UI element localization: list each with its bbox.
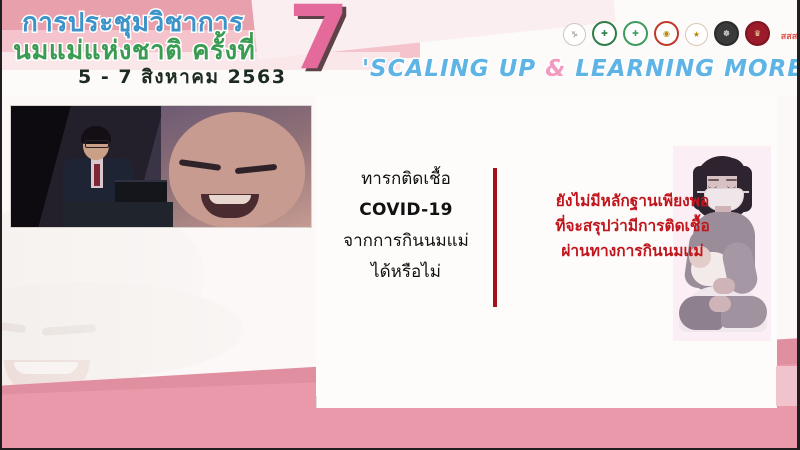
logo-2-glyph: ✚ xyxy=(632,29,639,38)
speaker-tie xyxy=(94,164,100,186)
question-line-3: จากการกินนมแม่ xyxy=(330,226,482,257)
logo-0-glyph: ♑ xyxy=(571,30,578,39)
podium xyxy=(63,202,173,228)
mother-foot xyxy=(709,296,731,312)
question-line-2: COVID-19 xyxy=(330,195,482,226)
conference-date: 5 - 7 สิงหาคม 2563 xyxy=(78,62,286,92)
answer-line-1: ยังไม่มีหลักฐานเพียงพอ xyxy=(505,189,760,214)
tagline-part-2: LEARNING MORE' xyxy=(566,56,800,82)
logo-emblem-red-icon: ◉ xyxy=(654,21,679,46)
frame-edge-left xyxy=(0,0,2,450)
speaker-glasses-icon xyxy=(85,140,109,148)
answer-line-3: ผ่านทางการกินนมแม่ xyxy=(505,239,760,264)
logo-ministry-health-icon: ✚ xyxy=(592,21,617,46)
logo-6-glyph: ♛ xyxy=(754,29,761,38)
conference-edition-number: 7 xyxy=(288,0,349,82)
answer-line-2: ที่จะสรุปว่ามีการติดเชื้อ xyxy=(505,214,760,239)
projected-baby-teeth xyxy=(209,195,251,204)
red-vertical-divider xyxy=(493,168,497,307)
logo-foundation-icon: ♑ xyxy=(563,23,586,46)
logo-7-glyph: สสส xyxy=(781,29,797,43)
tagline-part-1: 'SCALING UP xyxy=(362,56,545,82)
question-text-block: ทารกติดเชื้อ COVID-19 จากการกินนมแม่ ได้… xyxy=(330,164,482,288)
logo-red-crown-icon: ♛ xyxy=(745,21,770,46)
question-line-4: ได้หรือไม่ xyxy=(330,257,482,288)
logo-3-glyph: ◉ xyxy=(663,29,670,38)
logo-5-glyph: ☸ xyxy=(723,29,730,38)
mother-hand xyxy=(713,278,735,294)
sponsor-logo-row: ♑ ✚ ✚ ◉ ★ ☸ ♛ สสส xyxy=(563,21,800,46)
question-line-1: ทารกติดเชื้อ xyxy=(330,164,482,195)
answer-text-block: ยังไม่มีหลักฐานเพียงพอ ที่จะสรุปว่ามีการ… xyxy=(505,189,760,264)
mother-brow-right xyxy=(726,179,737,181)
logo-health-green-icon: ✚ xyxy=(623,21,648,46)
conference-tagline: 'SCALING UP & LEARNING MORE' xyxy=(362,56,800,82)
logo-4-glyph: ★ xyxy=(693,30,700,39)
speaker-photo-thumbnail[interactable] xyxy=(10,105,312,228)
tagline-ampersand: & xyxy=(545,56,566,82)
projected-baby-screen xyxy=(161,106,311,227)
screenshot-stage: การประชุมวิชาการ นมแม่แห่งชาติ ครั้งที่ … xyxy=(0,0,800,450)
presentation-slide: ทารกติดเชื้อ COVID-19 จากการกินนมแม่ ได้… xyxy=(0,96,800,450)
logo-1-glyph: ✚ xyxy=(601,29,608,38)
logo-garuda-icon: ★ xyxy=(685,23,708,46)
mother-brow-left xyxy=(708,179,719,181)
conference-header-banner: การประชุมวิชาการ นมแม่แห่งชาติ ครั้งที่ … xyxy=(0,0,800,96)
logo-black-seal-icon: ☸ xyxy=(714,21,739,46)
